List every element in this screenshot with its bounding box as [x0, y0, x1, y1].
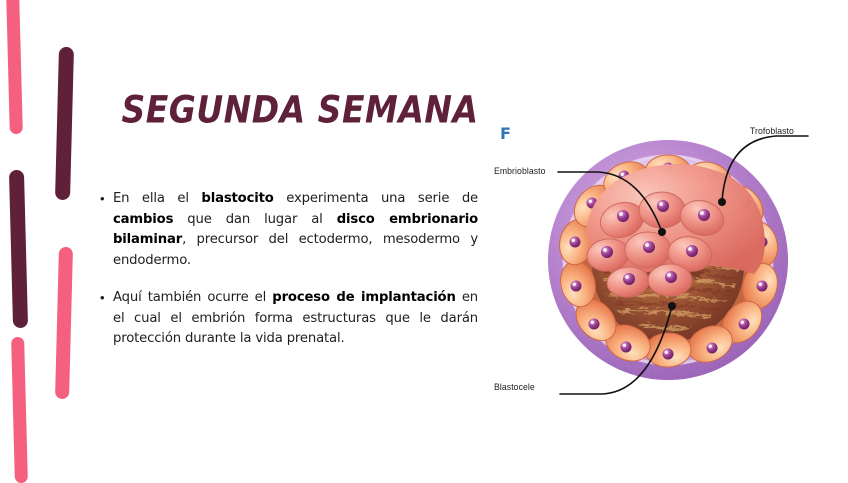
- stripe-pink-bottom-left: [11, 337, 28, 483]
- bullet-text-emphasis: blastocito: [201, 191, 273, 206]
- bullet-text: En ella el blastocito experimenta una se…: [113, 189, 478, 271]
- bullet-text-run: que dan lugar al: [173, 212, 336, 227]
- stripe-pink-top-left: [6, 0, 23, 134]
- blastocyst-illustration: [490, 110, 840, 410]
- bullet-text: Aquí también ocurre el proceso de implan…: [113, 288, 478, 350]
- bullet-text-emphasis: cambios: [113, 212, 173, 227]
- bullet-marker-icon: •: [100, 189, 113, 210]
- stripe-maroon-top-inner: [55, 47, 74, 200]
- bullet-marker-icon: •: [100, 288, 113, 309]
- stripe-maroon-mid-left: [9, 170, 28, 328]
- bullet-text-emphasis: proceso de implantación: [272, 290, 455, 305]
- bullet-text-run: experimenta una serie de: [274, 191, 478, 206]
- bullet-text-run: Aquí también ocurre el: [113, 290, 272, 305]
- bullet-item: •En ella el blastocito experimenta una s…: [100, 189, 478, 271]
- bullet-item: • Aquí también ocurre el proceso de impl…: [100, 288, 478, 350]
- page-title: SEGUNDA SEMANA: [120, 88, 480, 132]
- blastocyst-figure: F Embrioblasto Trofoblasto Blastocele: [490, 110, 840, 410]
- bullet-text-run: En ella el: [113, 191, 201, 206]
- body-text-block: •En ella el blastocito experimenta una s…: [100, 189, 478, 367]
- stripe-pink-mid-inner: [55, 247, 73, 399]
